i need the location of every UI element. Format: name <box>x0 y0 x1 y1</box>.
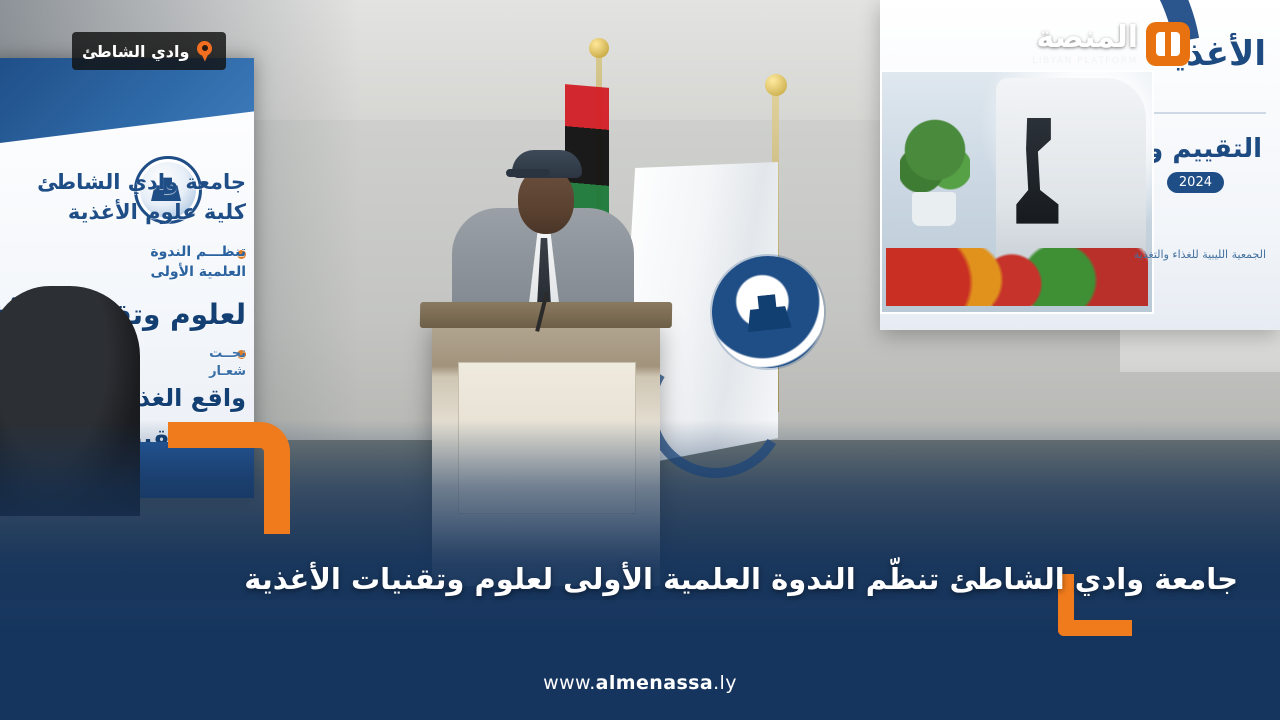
flag-finial-icon <box>589 38 609 58</box>
lab-photo <box>880 70 1154 314</box>
site-url: www.almenassa.ly <box>0 672 1280 694</box>
flag-finial-icon-2 <box>765 74 787 96</box>
site-url-suffix: .ly <box>713 672 737 694</box>
right-banner-badge: 2024 <box>1167 172 1224 193</box>
headline-text: جامعة وادي الشاطئ تنظّم الندوة العلمية ا… <box>238 557 1238 602</box>
location-label: وادي الشاطئ <box>82 42 189 61</box>
site-url-prefix: www. <box>543 672 596 694</box>
plant-graphic <box>900 114 970 204</box>
speaker-cap <box>512 150 582 178</box>
left-banner-line-4: العلمية الأولى <box>151 264 246 280</box>
left-banner-line-1: جامعة وادي الشاطئ <box>37 170 246 194</box>
platform-logo-english: LIBYAN PLATFORM <box>1032 56 1138 66</box>
accent-bracket-left <box>168 422 290 534</box>
platform-logo-arabic: المنصة <box>1036 20 1138 55</box>
left-banner-line-7: شعـار <box>209 364 246 379</box>
location-pill: وادي الشاطئ <box>72 32 226 70</box>
right-banner-footer: الجمعية الليبية للغذاء والتغذية <box>1134 248 1266 261</box>
podium-top <box>420 302 672 328</box>
video-frame: جامعة وادي الشاطئ كلية علوم الأغذية تنظـ… <box>0 0 1280 720</box>
platform-logo: المنصة LIBYAN PLATFORM الليبية <box>1010 18 1190 80</box>
pot-graphic <box>912 192 956 226</box>
left-banner-line-6: تحــت <box>209 346 246 361</box>
left-banner-line-3: تنظـــم الندوة <box>150 244 246 260</box>
site-url-brand: almenassa <box>596 672 713 694</box>
vegetables-graphic <box>886 248 1148 306</box>
banner-top-strip <box>0 58 254 144</box>
location-pin-icon <box>197 41 212 62</box>
scientist-figure <box>996 78 1146 258</box>
left-banner-line-2: كلية علوم الأغذية <box>68 200 246 224</box>
platform-mark-icon <box>1146 22 1190 66</box>
